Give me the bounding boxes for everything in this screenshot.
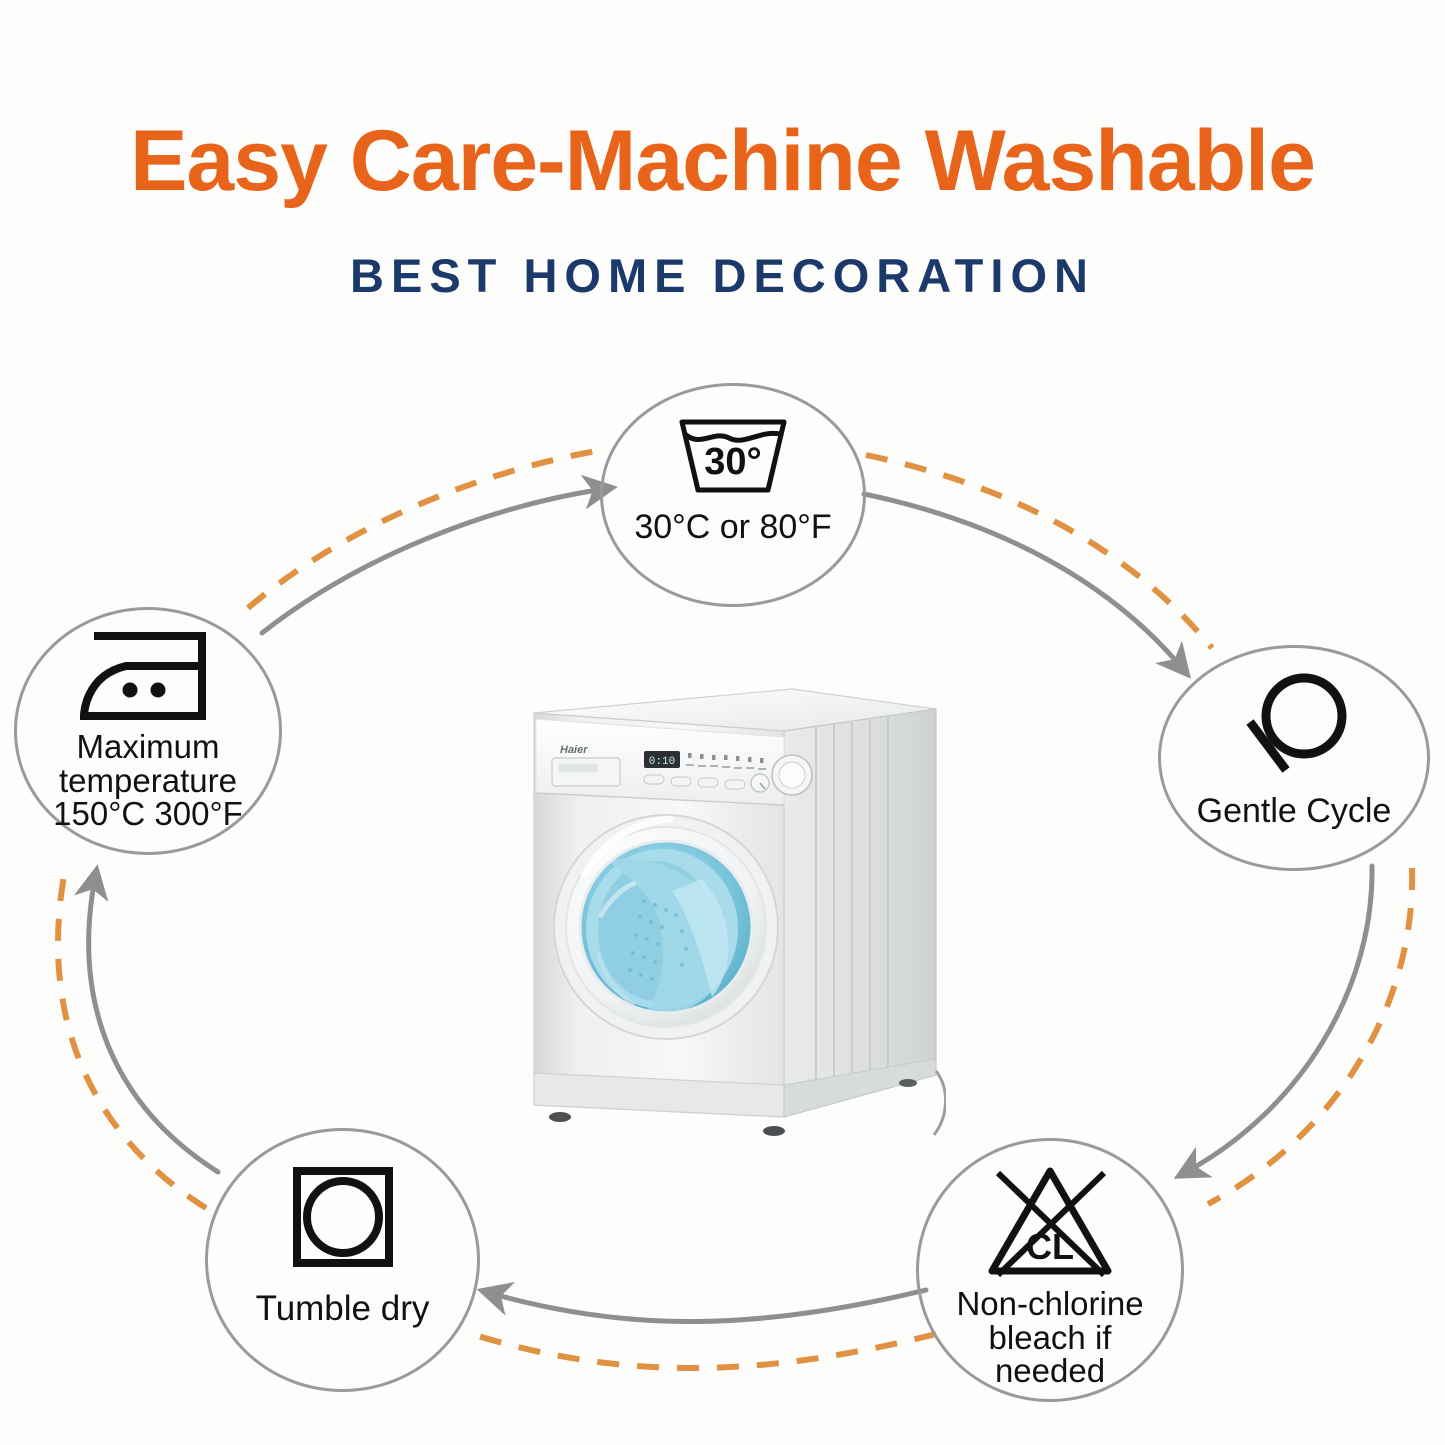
infographic-canvas: Easy Care-Machine Washable BEST HOME DEC… [0, 0, 1445, 1445]
page-subtitle: BEST HOME DECORATION [0, 248, 1445, 303]
tumble-dry-icon [291, 1165, 395, 1269]
connector-dash-bleach-to-tumble [478, 1334, 936, 1368]
node-max-iron-temperature-label: Maximum temperature 150°C 300°F [53, 730, 243, 831]
node-non-chlorine-bleach[interactable]: CL Non-chlorine bleach if needed [916, 1138, 1184, 1402]
connector-dash-tumble-to-iron [58, 876, 206, 1208]
wash-tub-temperature-text: 30° [704, 441, 761, 483]
node-tumble-dry-label: Tumble dry [256, 1291, 430, 1327]
machine-foot-left [549, 1112, 571, 1122]
power-cord [934, 1071, 946, 1135]
connector-dash-wash-to-gentle [866, 455, 1212, 648]
node-max-iron-temperature[interactable]: Maximum temperature 150°C 300°F [14, 607, 282, 855]
connector-gentle-to-bleach [1186, 866, 1372, 1172]
node-wash-temperature[interactable]: 30° 30°C or 80°F [600, 383, 866, 607]
connector-bleach-to-tumble [490, 1290, 926, 1322]
connector-iron-to-wash [262, 489, 604, 633]
iron-two-dots-icon [74, 628, 222, 724]
node-wash-temperature-label: 30°C or 80°F [634, 510, 831, 545]
connector-wash-to-gentle [864, 494, 1182, 668]
connector-dash-gentle-to-bleach [1208, 868, 1412, 1204]
brand-logo: Haier [560, 744, 588, 756]
node-tumble-dry[interactable]: Tumble dry [205, 1128, 480, 1392]
connector-dash-iron-to-wash [248, 449, 608, 608]
non-chlorine-bleach-icon: CL [984, 1163, 1116, 1283]
wash-tub-30-icon: 30° [674, 412, 792, 500]
bleach-symbol-text: CL [1026, 1226, 1074, 1267]
node-gentle-cycle-label: Gentle Cycle [1197, 794, 1392, 829]
machine-foot-right [763, 1126, 785, 1136]
node-gentle-cycle[interactable]: Gentle Cycle [1158, 645, 1430, 871]
gentle-cycle-icon [1234, 670, 1354, 782]
led-display-value: 0:10 [649, 756, 675, 768]
node-non-chlorine-bleach-label: Non-chlorine bleach if needed [956, 1287, 1143, 1388]
machine-foot-rear [899, 1079, 917, 1087]
connector-tumble-to-iron [89, 878, 218, 1172]
program-dial-inner [779, 762, 805, 788]
drawer-handle[interactable] [558, 764, 598, 772]
washing-machine-image: Haier 0:10 [516, 665, 946, 1185]
page-title: Easy Care-Machine Washable [0, 112, 1445, 211]
